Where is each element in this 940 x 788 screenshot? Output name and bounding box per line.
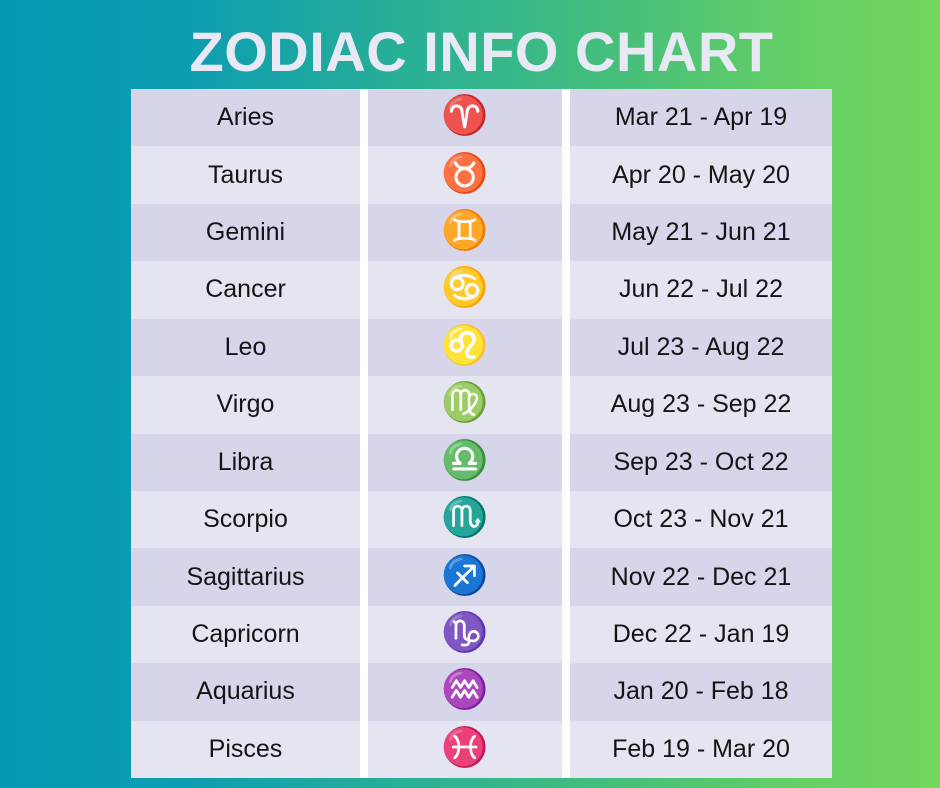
pisces-symbol: ♓: [368, 721, 562, 778]
virgo-symbol: ♍: [368, 376, 562, 433]
zodiac-sign-name: Taurus: [131, 146, 360, 203]
column-divider: [360, 548, 368, 605]
zodiac-sign-name: Virgo: [131, 376, 360, 433]
leo-symbol: ♌: [368, 319, 562, 376]
column-divider: [360, 146, 368, 203]
column-divider: [562, 376, 570, 433]
zodiac-date-range: Jul 23 - Aug 22: [570, 319, 832, 376]
zodiac-sign-name: Aquarius: [131, 663, 360, 720]
table-row: Scorpio♏Oct 23 - Nov 21: [131, 491, 832, 548]
zodiac-date-range: Jun 22 - Jul 22: [570, 261, 832, 318]
column-divider: [360, 606, 368, 663]
column-divider: [562, 663, 570, 720]
column-divider: [562, 319, 570, 376]
zodiac-sign-name: Scorpio: [131, 491, 360, 548]
gemini-symbol: ♊: [368, 204, 562, 261]
column-divider: [562, 491, 570, 548]
column-divider: [360, 376, 368, 433]
table-row: Pisces♓Feb 19 - Mar 20: [131, 721, 832, 778]
zodiac-date-range: Apr 20 - May 20: [570, 146, 832, 203]
column-divider: [562, 204, 570, 261]
column-divider: [360, 319, 368, 376]
zodiac-sign-name: Leo: [131, 319, 360, 376]
column-divider: [360, 89, 368, 146]
column-divider: [360, 491, 368, 548]
table-row: Taurus♉Apr 20 - May 20: [131, 146, 832, 203]
libra-symbol: ♎: [368, 434, 562, 491]
table-row: Sagittarius♐Nov 22 - Dec 21: [131, 548, 832, 605]
zodiac-date-range: Sep 23 - Oct 22: [570, 434, 832, 491]
column-divider: [360, 261, 368, 318]
zodiac-date-range: May 21 - Jun 21: [570, 204, 832, 261]
column-divider: [360, 663, 368, 720]
zodiac-table: Aries♈Mar 21 - Apr 19Taurus♉Apr 20 - May…: [131, 89, 832, 778]
table-row: Aquarius♒Jan 20 - Feb 18: [131, 663, 832, 720]
zodiac-date-range: Jan 20 - Feb 18: [570, 663, 832, 720]
table-row: Aries♈Mar 21 - Apr 19: [131, 89, 832, 146]
column-divider: [360, 434, 368, 491]
aries-symbol: ♈: [368, 89, 562, 146]
sagittarius-symbol: ♐: [368, 548, 562, 605]
scorpio-symbol: ♏: [368, 491, 562, 548]
zodiac-sign-name: Sagittarius: [131, 548, 360, 605]
capricorn-symbol: ♑: [368, 606, 562, 663]
column-divider: [562, 146, 570, 203]
column-divider: [562, 606, 570, 663]
table-row: Cancer♋Jun 22 - Jul 22: [131, 261, 832, 318]
zodiac-sign-name: Aries: [131, 89, 360, 146]
zodiac-date-range: Dec 22 - Jan 19: [570, 606, 832, 663]
column-divider: [562, 434, 570, 491]
zodiac-sign-name: Pisces: [131, 721, 360, 778]
column-divider: [360, 204, 368, 261]
zodiac-date-range: Mar 21 - Apr 19: [570, 89, 832, 146]
aquarius-symbol: ♒: [368, 663, 562, 720]
zodiac-date-range: Aug 23 - Sep 22: [570, 376, 832, 433]
zodiac-date-range: Oct 23 - Nov 21: [570, 491, 832, 548]
cancer-symbol: ♋: [368, 261, 562, 318]
table-row: Libra♎Sep 23 - Oct 22: [131, 434, 832, 491]
zodiac-date-range: Feb 19 - Mar 20: [570, 721, 832, 778]
column-divider: [562, 89, 570, 146]
zodiac-sign-name: Libra: [131, 434, 360, 491]
zodiac-sign-name: Gemini: [131, 204, 360, 261]
zodiac-date-range: Nov 22 - Dec 21: [570, 548, 832, 605]
zodiac-sign-name: Cancer: [131, 261, 360, 318]
table-row: Leo♌Jul 23 - Aug 22: [131, 319, 832, 376]
table-row: Virgo♍Aug 23 - Sep 22: [131, 376, 832, 433]
table-row: Capricorn♑Dec 22 - Jan 19: [131, 606, 832, 663]
zodiac-sign-name: Capricorn: [131, 606, 360, 663]
column-divider: [562, 261, 570, 318]
taurus-symbol: ♉: [368, 146, 562, 203]
column-divider: [360, 721, 368, 778]
page-title: ZODIAC INFO CHART: [131, 16, 832, 88]
column-divider: [562, 721, 570, 778]
column-divider: [562, 548, 570, 605]
table-row: Gemini♊May 21 - Jun 21: [131, 204, 832, 261]
